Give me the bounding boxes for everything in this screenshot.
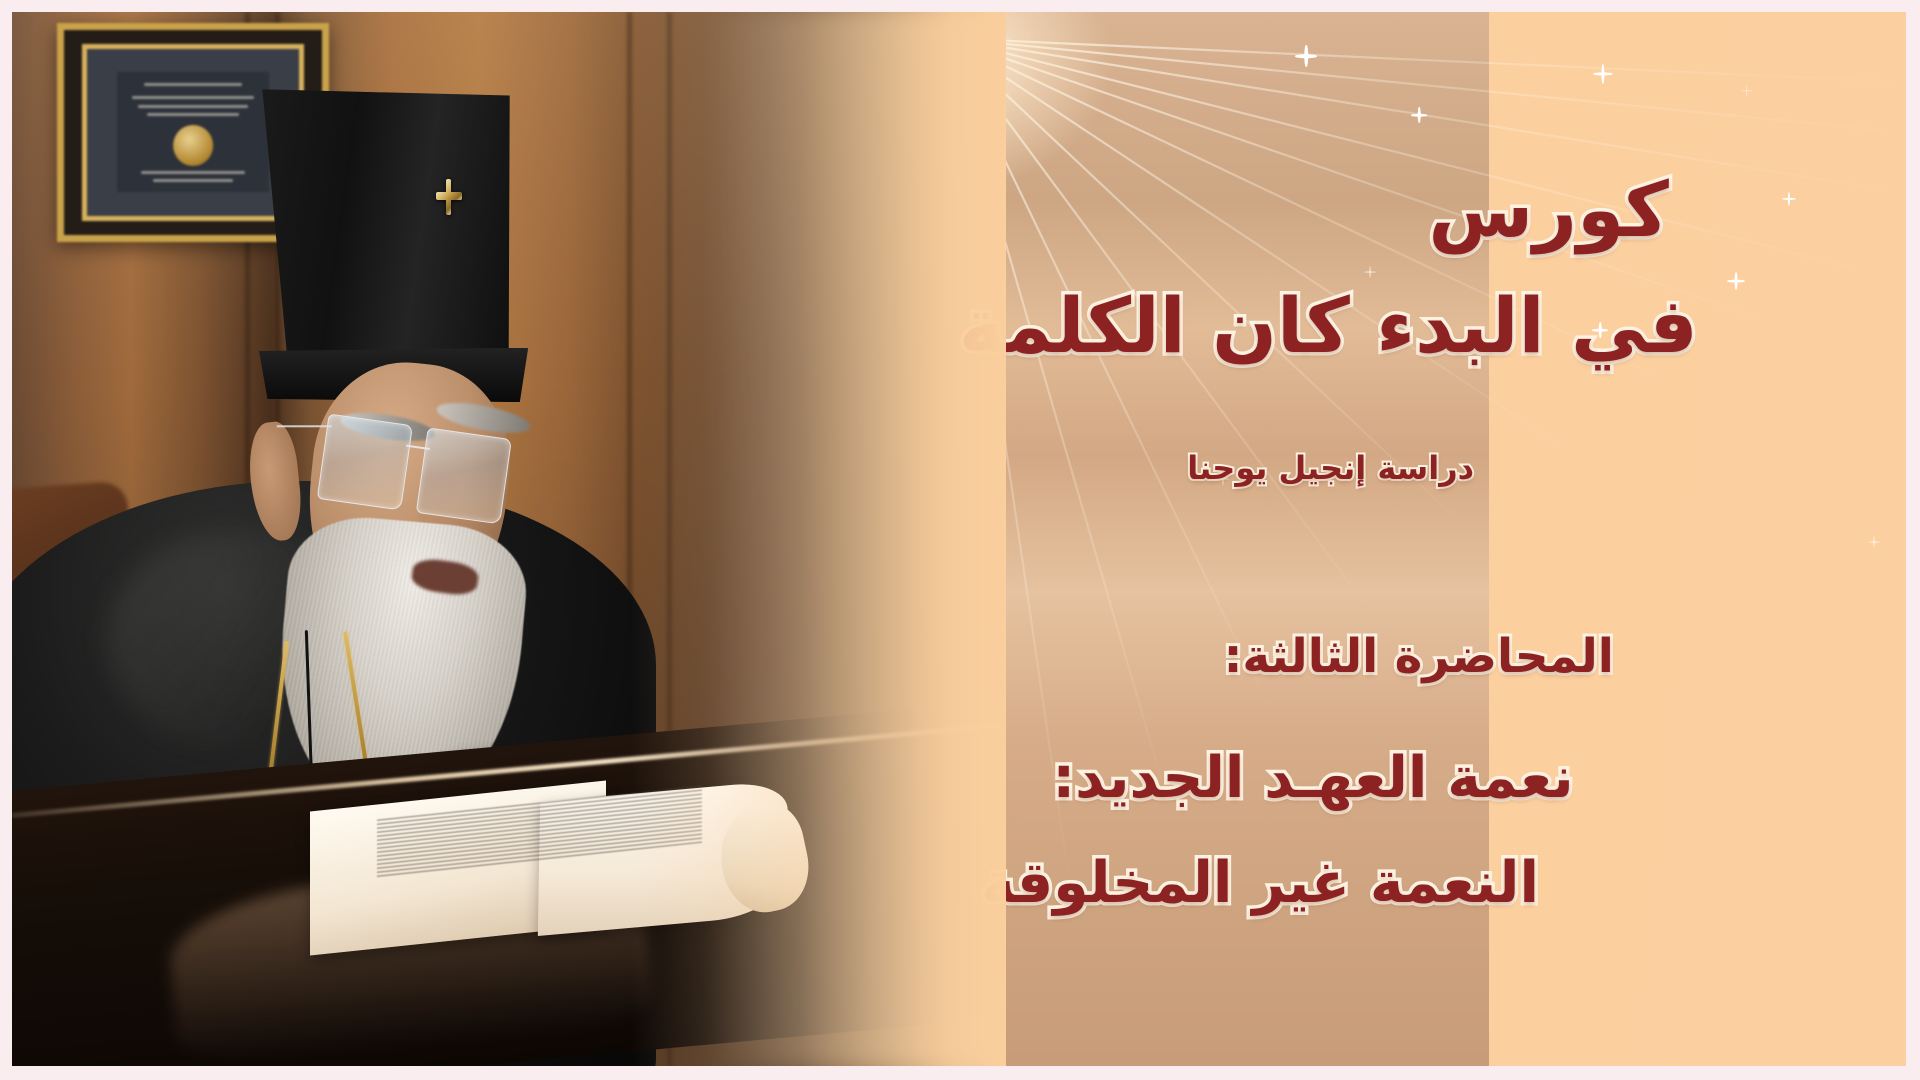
lecture-title-line1-text: نعمة العهـد الجديد:: [1052, 745, 1573, 811]
lens-left: [317, 413, 413, 510]
page-title-text: في البدء كان الكلمة: [959, 281, 1698, 370]
page-subtitle-text: دراسة إنجيل يوحنا: [1187, 449, 1474, 487]
lens-right: [416, 427, 512, 524]
course-word-text: كورس: [1428, 165, 1668, 254]
lecture-title-line2-text: النعمة غير المخلوقة: [981, 850, 1539, 916]
lecture-number-text: المحاضرة الثالثة:: [1224, 629, 1614, 684]
course-banner: كورس في البدء كان الكلمة دراسة إنجيل يوح…: [0, 0, 1920, 1080]
clergyman-photo: [12, 12, 1006, 1066]
page-subtitle: دراسة إنجيل يوحنا: [908, 449, 1753, 487]
banner-stage: كورس في البدء كان الكلمة دراسة إنجيل يوح…: [12, 12, 1906, 1066]
glasses-temple: [277, 425, 332, 427]
gold-cross-icon: [436, 179, 462, 215]
photo-fade-to-peach: [631, 12, 1007, 1066]
kalimavkion-hat: [246, 80, 531, 387]
lecture-number: المحاضرة الثالثة:: [1031, 629, 1806, 684]
course-word: كورس: [1428, 165, 1668, 254]
